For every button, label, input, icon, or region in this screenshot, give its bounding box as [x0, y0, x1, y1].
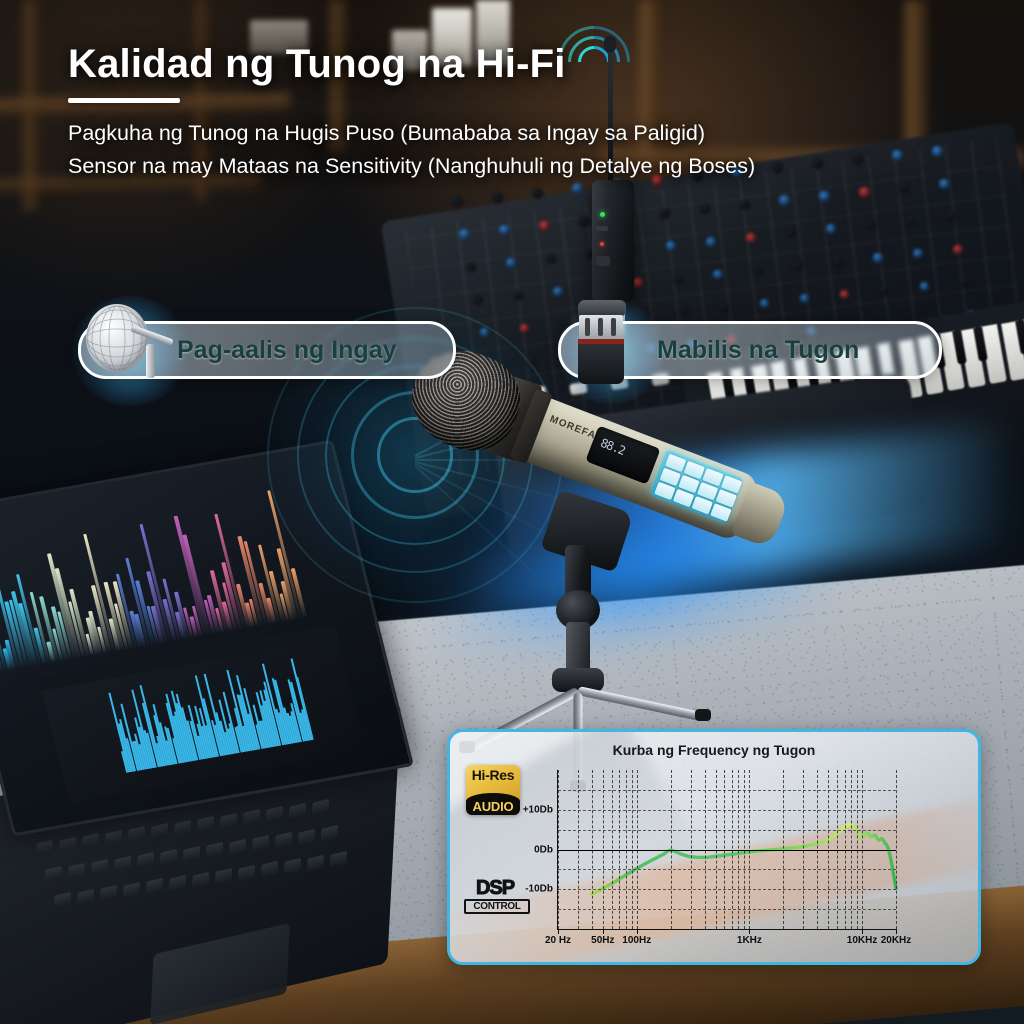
wireless-transmitter	[592, 180, 634, 302]
console-knob	[499, 225, 510, 236]
console-knob	[633, 278, 643, 288]
chart-y-tick-label: 0Db	[534, 844, 553, 855]
capsule-icon-slot	[585, 318, 590, 336]
subtitle-line-1: Pagkuha ng Tunog na Hugis Puso (Bumababa…	[68, 117, 1008, 150]
chart-x-tick	[896, 929, 897, 934]
chart-gridline-horizontal	[558, 830, 896, 831]
console-knob	[459, 229, 470, 240]
chart-zero-db-line	[558, 850, 896, 851]
console-knob	[859, 187, 870, 198]
chart-gridline-horizontal	[558, 790, 896, 791]
chart-x-tick-label: 100Hz	[622, 935, 651, 946]
console-knob	[666, 241, 676, 251]
chart-gridline-horizontal	[558, 889, 896, 890]
console-knob	[673, 274, 683, 284]
console-knob	[753, 266, 763, 276]
console-knob	[906, 216, 916, 226]
console-knob	[539, 221, 550, 232]
hi-res-badge-bottom: AUDIO	[466, 799, 520, 814]
console-knob	[866, 220, 876, 230]
console-knob	[873, 253, 883, 263]
console-knob	[953, 245, 963, 255]
console-knob	[819, 191, 830, 202]
chart-x-tick-label: 50Hz	[591, 935, 614, 946]
subtitle-line-2: Sensor na may Mataas na Sensitivity (Nan…	[68, 150, 1008, 183]
power-led-icon	[600, 212, 605, 217]
dsp-badge-top: DSP	[464, 877, 526, 900]
console-knob	[946, 212, 956, 222]
chart-x-tick-label: 20 Hz	[545, 935, 571, 946]
frequency-response-panel: Kurba ng Frequency ng Tugon Hi-Res AUDIO…	[447, 729, 981, 965]
chart-title: Kurba ng Frequency ng Tugon	[450, 742, 978, 758]
chart-x-tick	[749, 929, 750, 934]
chart-x-tick-label: 20KHz	[881, 935, 912, 946]
console-knob	[739, 200, 750, 211]
console-knob	[746, 233, 756, 243]
console-knob	[899, 183, 910, 194]
console-knob	[960, 278, 969, 287]
feature-pill-label: Mabilis na Tugon	[657, 336, 859, 365]
hi-res-badge-top: Hi-Res	[466, 767, 520, 783]
capsule-icon-slot	[598, 318, 603, 336]
chart-x-tick-label: 1KHz	[737, 935, 762, 946]
page-title: Kalidad ng Tunog na Hi-Fi	[68, 42, 1008, 86]
chart-y-tick-label: +10Db	[523, 804, 553, 815]
console-knob	[833, 257, 843, 267]
console-knob	[713, 270, 723, 280]
chart-gridline-horizontal	[558, 909, 896, 910]
console-knob	[720, 303, 729, 312]
stand-column	[566, 622, 590, 674]
console-knob	[920, 282, 929, 291]
chart-x-tick	[558, 929, 559, 934]
dsp-badge-bottom: CONTROL	[464, 899, 530, 914]
console-knob	[452, 196, 463, 207]
console-knob	[699, 204, 710, 215]
console-knob	[880, 286, 889, 295]
chart-x-tick	[637, 929, 638, 934]
dsp-control-badge: DSP CONTROL	[464, 877, 526, 919]
dish-grid-svg	[86, 304, 148, 372]
feature-pill-label: Pag-aalis ng Ingay	[177, 336, 397, 365]
chart-gridline-vertical	[896, 770, 897, 929]
parabolic-dish-microphone-icon	[82, 300, 178, 384]
frequency-response-plot: +10Db0Db-10Db20 Hz50Hz100Hz1KHz10KHz20KH…	[557, 770, 896, 930]
chart-x-tick-label: 10KHz	[847, 935, 878, 946]
console-knob	[532, 188, 543, 199]
chart-gridline-horizontal	[558, 810, 896, 811]
capsule-icon-body	[578, 344, 624, 384]
chart-x-tick	[862, 929, 863, 934]
console-knob	[466, 262, 476, 272]
daw-waveform	[106, 658, 314, 773]
title-underline	[68, 98, 180, 103]
console-knob	[706, 237, 716, 247]
chart-y-tick-label: -10Db	[525, 884, 553, 895]
dish-wireframe	[86, 304, 148, 372]
tripod-foot	[695, 709, 711, 721]
console-knob	[546, 254, 556, 264]
console-knob	[659, 208, 670, 219]
transmitter-button	[596, 256, 610, 266]
microphone-capsule-icon	[572, 298, 630, 388]
hi-res-audio-badge: Hi-Res AUDIO	[466, 765, 520, 815]
console-knob	[492, 192, 503, 203]
header-block: Kalidad ng Tunog na Hi-Fi Pagkuha ng Tun…	[68, 42, 1008, 184]
console-knob	[760, 299, 769, 308]
console-knob	[680, 307, 689, 316]
product-marketing-image: MOREFAND 88.2 Kalidad ng Tunog na Hi-Fi …	[0, 0, 1024, 1024]
status-led-icon	[600, 242, 604, 246]
console-knob	[793, 261, 803, 271]
console-knob	[913, 249, 923, 259]
chart-gridline-horizontal	[558, 869, 896, 870]
transmitter-button	[596, 226, 608, 231]
chart-x-tick	[603, 929, 604, 934]
console-knob	[779, 195, 790, 206]
console-knob	[579, 216, 590, 227]
capsule-icon-slot	[611, 318, 616, 336]
console-knob	[506, 258, 516, 268]
dish-post	[146, 344, 155, 378]
